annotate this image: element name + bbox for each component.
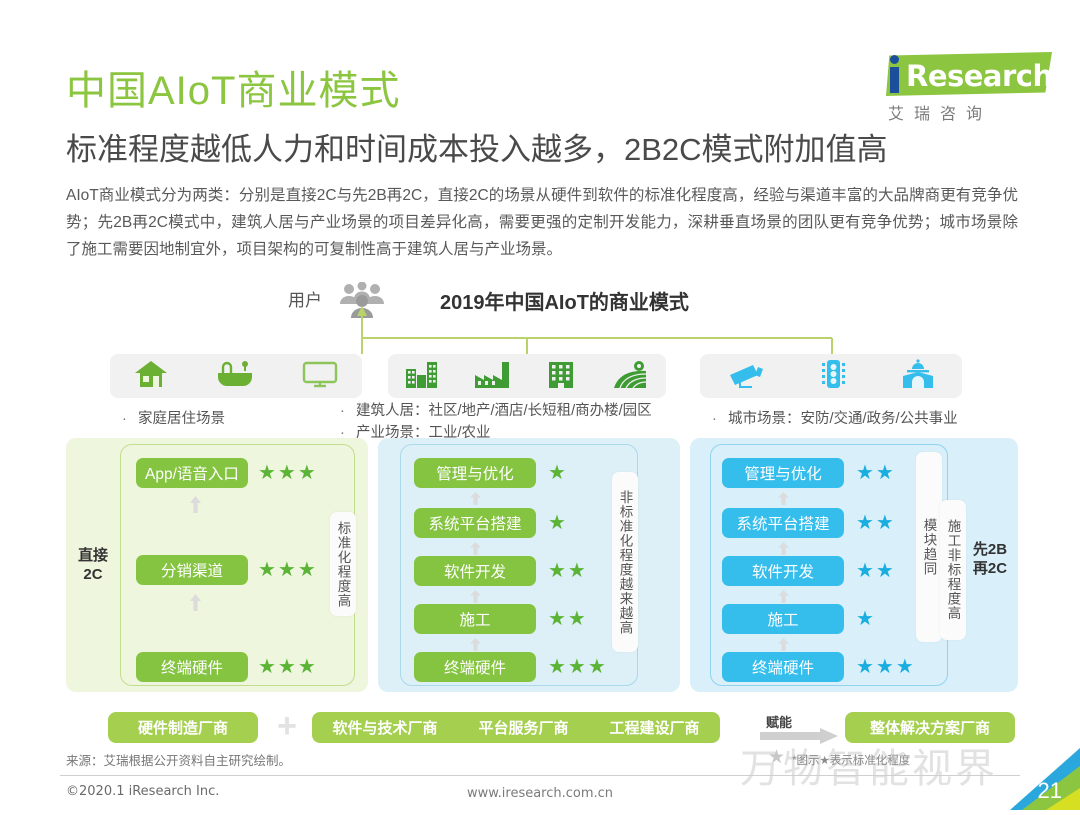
- side-label-direct-2c: 直接 2C: [68, 546, 118, 584]
- page-subtitle: 标准程度越低人力和时间成本投入越多，2B2C模式附加值高: [66, 124, 888, 169]
- page-number: 21: [1038, 778, 1062, 804]
- chip-left-row-1[interactable]: 分销渠道: [136, 555, 248, 585]
- stars-right-row-2: ★★: [856, 556, 896, 586]
- logo-i-stem-icon: [890, 67, 899, 93]
- chip-left-row-2[interactable]: 终端硬件: [136, 652, 248, 682]
- chip-mid-row-4[interactable]: 终端硬件: [414, 652, 536, 682]
- logo-wordmark: Research: [906, 59, 1053, 93]
- scene-caption-home: ·家庭居住场景: [122, 408, 372, 430]
- city-buildings-icon: [404, 359, 440, 394]
- chip-right-row-1[interactable]: 系统平台搭建: [722, 508, 844, 538]
- scene-caption-city-text: 城市场景：安防/交通/政务/公共事业: [728, 411, 958, 427]
- bullet-icon: ·: [340, 400, 356, 422]
- side-label-direct-line1: 直接: [68, 546, 118, 565]
- vendor-software-label: 软件与技术厂商: [332, 717, 437, 738]
- vendor-hardware-manufacturers[interactable]: 硬件制造厂商: [108, 712, 258, 743]
- source-note: 来源：艾瑞根据公开资料自主研究绘制。: [66, 750, 291, 769]
- page-title: 中国AIoT商业模式: [66, 58, 400, 116]
- chip-right-row-0[interactable]: 管理与优化: [722, 458, 844, 488]
- stars-mid-row-3: ★★: [548, 604, 588, 634]
- stars-right-row-0: ★★: [856, 458, 896, 488]
- chip-right-row-3[interactable]: 施工: [722, 604, 844, 634]
- stars-mid-row-4: ★★★: [548, 652, 608, 682]
- vendor-middle-group[interactable]: 软件与技术厂商 平台服务厂商 工程建设厂商: [312, 712, 720, 743]
- scene-strip-city: [700, 354, 962, 398]
- legend-note: *图示★表示标准化程度: [792, 752, 910, 768]
- intro-paragraph: AIoT商业模式分为两类：分别是直接2C与先2B再2C，直接2C的场景从硬件到软…: [66, 182, 1018, 263]
- stars-mid-row-0: ★: [548, 458, 568, 488]
- footer-divider: [60, 775, 1020, 776]
- farm-field-icon: [610, 359, 650, 394]
- traffic-light-icon: [818, 358, 848, 395]
- note-nonstandard-increasing: 非标准化程度越来越高: [612, 472, 638, 652]
- chip-mid-row-0[interactable]: 管理与优化: [414, 458, 536, 488]
- chip-mid-row-3[interactable]: 施工: [414, 604, 536, 634]
- stars-left-row-0: ★★★: [258, 458, 318, 488]
- note-construction-nonstandard: 施工非标程度高: [940, 500, 966, 640]
- stars-right-row-3: ★: [856, 604, 876, 634]
- side-label-2b2c: 先2B 再2C: [962, 540, 1018, 578]
- plus-icon: +: [274, 714, 300, 740]
- note-standardization-high: 标准化程度高: [330, 512, 356, 616]
- chip-right-row-2[interactable]: 软件开发: [722, 556, 844, 586]
- stars-right-row-1: ★★: [856, 508, 896, 538]
- security-camera-icon: [725, 359, 767, 394]
- corner-decoration: [970, 748, 1080, 810]
- logo-chinese-name: 艾瑞咨询: [888, 100, 992, 124]
- up-arrow-icon: [470, 492, 481, 509]
- stars-left-row-1: ★★★: [258, 555, 318, 585]
- vendor-full-solution-label: 整体解决方案厂商: [870, 717, 990, 738]
- scene-caption-home-text: 家庭居住场景: [138, 411, 225, 427]
- factory-icon: [473, 359, 513, 394]
- office-building-icon: [545, 359, 577, 394]
- side-label-2b2c-line2: 再2C: [962, 559, 1018, 578]
- house-icon: [132, 359, 170, 394]
- vendor-hardware-label: 硬件制造厂商: [138, 717, 228, 738]
- chip-mid-row-2[interactable]: 软件开发: [414, 556, 536, 586]
- scene-caption-building-line1: 建筑人居：社区/地产/酒店/长短租/商办楼/园区: [356, 403, 652, 419]
- chip-left-row-0[interactable]: App/语音入口: [136, 458, 248, 488]
- chip-mid-row-1[interactable]: 系统平台搭建: [414, 508, 536, 538]
- vendor-engineering-label: 工程建设厂商: [609, 717, 699, 738]
- note-module-convergence: 模块趋同: [916, 452, 942, 642]
- stars-mid-row-1: ★: [548, 508, 568, 538]
- side-label-2b2c-line1: 先2B: [962, 540, 1018, 559]
- vendor-platform-label: 平台服务厂商: [478, 717, 568, 738]
- scene-caption-city: ·城市场景：安防/交通/政务/公共事业: [712, 408, 1012, 430]
- up-arrow-icon: [190, 594, 201, 611]
- arrow-right-icon: [760, 728, 838, 744]
- logo-i-dot-icon: [890, 55, 899, 64]
- bullet-icon: ·: [712, 408, 728, 430]
- legend-star-icon: ★: [768, 748, 785, 767]
- up-arrow-icon: [190, 496, 201, 513]
- website-url: www.iresearch.com.cn: [0, 786, 1080, 801]
- chip-right-row-4[interactable]: 终端硬件: [722, 652, 844, 682]
- iresearch-logo: Research 艾瑞咨询: [866, 52, 1052, 124]
- government-building-icon: [899, 358, 937, 395]
- tv-icon: [300, 359, 340, 394]
- scene-strip-building: [388, 354, 666, 398]
- bathtub-icon: [215, 359, 255, 394]
- scene-strip-home: [110, 354, 362, 398]
- stars-right-row-4: ★★★: [856, 652, 916, 682]
- stars-mid-row-2: ★★: [548, 556, 588, 586]
- bullet-icon: ·: [122, 408, 138, 430]
- stars-left-row-2: ★★★: [258, 652, 318, 682]
- vendor-full-solution[interactable]: 整体解决方案厂商: [845, 712, 1015, 743]
- up-arrow-icon: [778, 492, 789, 509]
- side-label-direct-line2: 2C: [68, 565, 118, 584]
